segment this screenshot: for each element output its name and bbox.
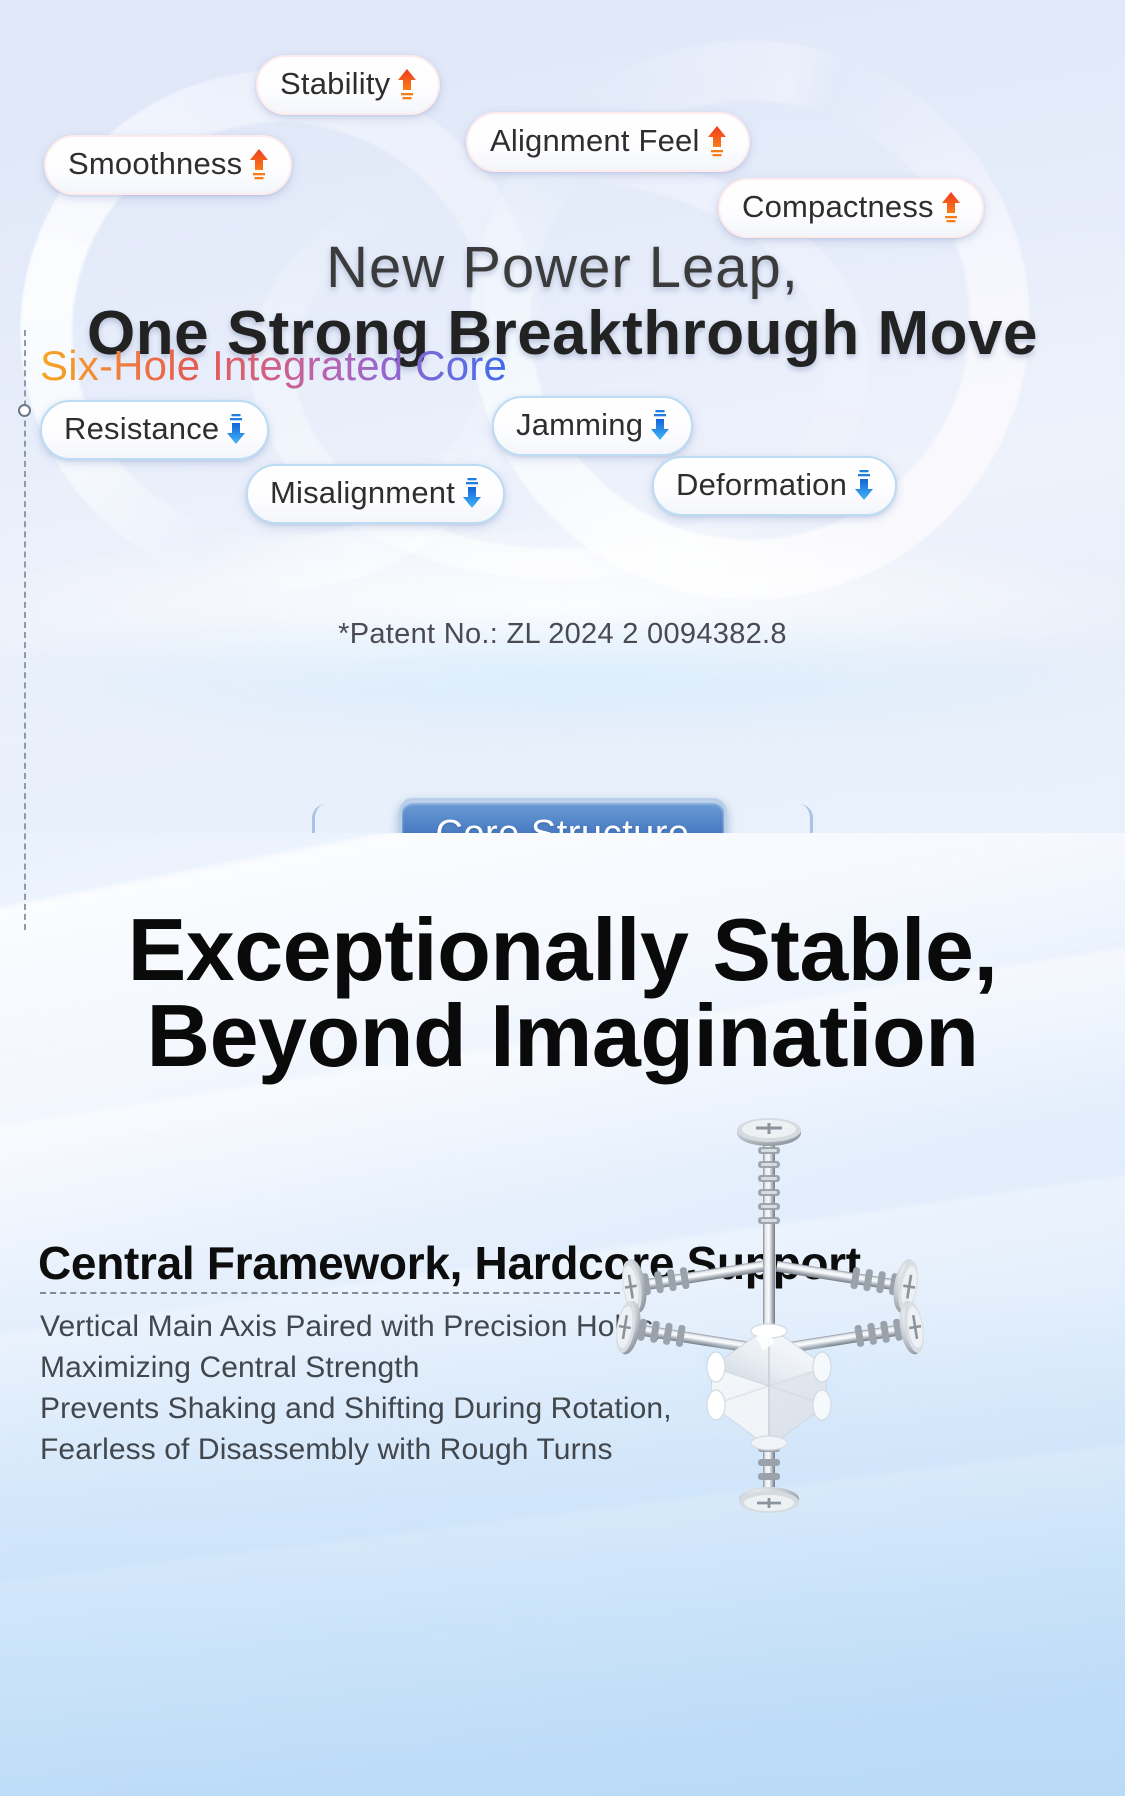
arrow-up-icon bbox=[396, 67, 418, 101]
badge-deformation: Deformation bbox=[652, 456, 897, 516]
badge-stability: Stability bbox=[256, 55, 440, 115]
arrow-up-icon bbox=[248, 147, 270, 181]
badge-resistance: Resistance bbox=[40, 400, 269, 460]
badge-jamming: Jamming bbox=[492, 396, 693, 456]
patent-number-note: *Patent No.: ZL 2024 2 0094382.8 bbox=[0, 618, 1125, 651]
badge-label: Deformation bbox=[676, 467, 847, 503]
badge-label: Misalignment bbox=[270, 475, 455, 511]
rail-marker-dot bbox=[18, 404, 31, 417]
screw-right-upper bbox=[776, 1258, 921, 1315]
badge-label: Resistance bbox=[64, 411, 219, 447]
arrow-down-icon bbox=[649, 408, 671, 442]
core-title-line2: Beyond Imagination bbox=[0, 985, 1125, 1087]
screw-right-lower bbox=[778, 1299, 927, 1356]
arrow-down-icon bbox=[225, 412, 247, 446]
arrow-down-icon bbox=[853, 468, 875, 502]
badge-label: Smoothness bbox=[68, 146, 242, 182]
gradient-heading-six-hole-core: Six-Hole Integrated Core bbox=[40, 342, 507, 390]
badge-smoothness: Smoothness bbox=[44, 135, 292, 195]
hero-headline-line1: New Power Leap, bbox=[0, 234, 1125, 301]
badge-misalignment: Misalignment bbox=[246, 464, 505, 524]
arrow-up-icon bbox=[940, 190, 962, 224]
product-image-six-hole-connector bbox=[560, 1075, 980, 1525]
badge-label: Stability bbox=[280, 66, 390, 102]
badge-label: Jamming bbox=[516, 407, 643, 443]
hero-section: Stability Smoothness Alignment Feel Comp… bbox=[0, 0, 1125, 833]
badge-compactness: Compactness bbox=[718, 178, 984, 238]
arrow-down-icon bbox=[461, 476, 483, 510]
screw-top bbox=[737, 1118, 801, 1345]
badge-label: Alignment Feel bbox=[490, 123, 700, 159]
six-hole-hub-illustration bbox=[560, 1075, 980, 1525]
badge-label: Compactness bbox=[742, 189, 934, 225]
badge-alignment-feel: Alignment Feel bbox=[466, 112, 750, 172]
dashed-rail-decoration bbox=[24, 330, 26, 930]
horizontal-dashed-rule bbox=[40, 1292, 620, 1294]
arrow-up-icon bbox=[706, 124, 728, 158]
screw-left-upper bbox=[619, 1258, 764, 1315]
